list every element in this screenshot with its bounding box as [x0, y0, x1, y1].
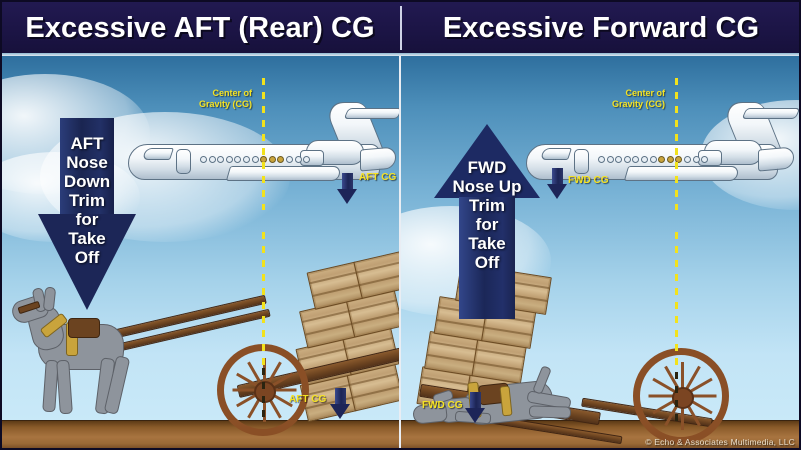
trim-line-1: AFT — [70, 134, 103, 153]
fwd-cg-label-aircraft: FWD CG — [568, 175, 609, 186]
cabin-window — [693, 156, 700, 163]
cabin-window — [286, 156, 293, 163]
aft-cg-label-aircraft: AFT CG — [359, 172, 396, 183]
trim-line-3: Down — [64, 172, 110, 191]
cabin-window — [658, 156, 665, 163]
trim-line-1: FWD — [468, 158, 507, 177]
cabin-window — [303, 156, 310, 163]
cabin-window — [226, 156, 233, 163]
cabin-window — [277, 156, 284, 163]
cabin-window — [243, 156, 250, 163]
cabin-window — [701, 156, 708, 163]
wheel-hub — [254, 381, 276, 403]
cabin-window — [200, 156, 207, 163]
donkey-hindleg — [529, 405, 571, 418]
cabin-window — [667, 156, 674, 163]
aircraft-wing — [624, 166, 740, 181]
trim-line-2: Nose Up — [453, 177, 522, 196]
aircraft-tail-cone — [360, 146, 396, 171]
trim-line-6: Off — [475, 253, 500, 272]
aft-cg-arrow-cart — [330, 388, 351, 419]
cg-reference-line-cart-right — [675, 232, 678, 372]
aircraft-cockpit-window — [142, 148, 174, 160]
aircraft-wing — [226, 166, 342, 181]
cabin-window — [641, 156, 648, 163]
trim-line-5: Take — [468, 234, 506, 253]
cabin-window — [295, 156, 302, 163]
aircraft-window-row — [598, 156, 708, 163]
cabin-window — [269, 156, 276, 163]
cg-caption-line1: Center of — [625, 88, 665, 98]
aft-trim-arrow-label: AFT Nose Down Trim for Take Off — [32, 134, 142, 267]
cabin-window — [252, 156, 259, 163]
cabin-window — [615, 156, 622, 163]
cg-caption-left: Center of Gravity (CG) — [168, 88, 252, 110]
cabin-window — [234, 156, 241, 163]
aircraft-cockpit-window — [540, 148, 572, 160]
fwd-cg-arrow-cart — [465, 392, 486, 423]
trim-line-2: Nose — [66, 153, 108, 172]
cabin-window — [624, 156, 631, 163]
left-panel-title: Excessive AFT (Rear) CG — [0, 6, 400, 50]
cg-reference-line-aircraft-right — [675, 78, 678, 210]
cg-reference-line-cart-left-wheel — [262, 368, 265, 422]
cg-reference-line-cart-right-wheel — [675, 372, 678, 422]
aft-cg-label-cart: AFT CG — [289, 394, 326, 405]
cg-caption-right: Center of Gravity (CG) — [581, 88, 665, 110]
aircraft-tail-cone — [758, 146, 794, 171]
cabin-window — [632, 156, 639, 163]
donkey-saddle — [68, 318, 100, 338]
trim-line-4: for — [476, 215, 499, 234]
cabin-window — [217, 156, 224, 163]
trim-line-6: Take — [68, 229, 106, 248]
cabin-window — [598, 156, 605, 163]
cg-caption-line2: Gravity (CG) — [612, 99, 665, 109]
right-panel: Center of Gravity (CG) — [401, 56, 801, 450]
cg-reference-line-aircraft-left — [262, 78, 265, 210]
cabin-window — [650, 156, 657, 163]
aircraft-cabin-door — [574, 149, 589, 174]
infographic-root: Excessive AFT (Rear) CG Excessive Forwar… — [0, 0, 801, 450]
cabin-window — [209, 156, 216, 163]
fwd-cg-label-cart: FWD CG — [422, 400, 463, 411]
donkey-left — [10, 296, 150, 422]
header-divider — [400, 6, 402, 50]
aft-cg-arrow-aircraft — [337, 173, 358, 204]
cg-reference-line-cart-left — [262, 232, 265, 368]
aircraft-window-row — [200, 156, 310, 163]
cg-caption-line2: Gravity (CG) — [199, 99, 252, 109]
cart-wheel-right — [633, 348, 729, 444]
panel-divider — [399, 56, 401, 450]
trim-line-4: Trim — [69, 191, 105, 210]
cabin-window — [684, 156, 691, 163]
trim-line-5: for — [76, 210, 99, 229]
fwd-trim-arrow-label: FWD Nose Up Trim for Take Off — [432, 158, 542, 272]
left-panel: Center of Gravity (CG) — [0, 56, 400, 450]
trim-line-3: Trim — [469, 196, 505, 215]
fwd-cg-arrow-aircraft — [547, 168, 568, 199]
aircraft-cabin-door — [176, 149, 191, 174]
aircraft-horizontal-stabilizer — [344, 108, 400, 119]
cabin-window — [607, 156, 614, 163]
copyright-notice: © Echo & Associates Multimedia, LLC — [645, 437, 795, 447]
trim-line-7: Off — [75, 248, 100, 267]
cg-caption-line1: Center of — [212, 88, 252, 98]
right-panel-title: Excessive Forward CG — [401, 6, 801, 50]
aircraft-horizontal-stabilizer — [742, 108, 801, 119]
